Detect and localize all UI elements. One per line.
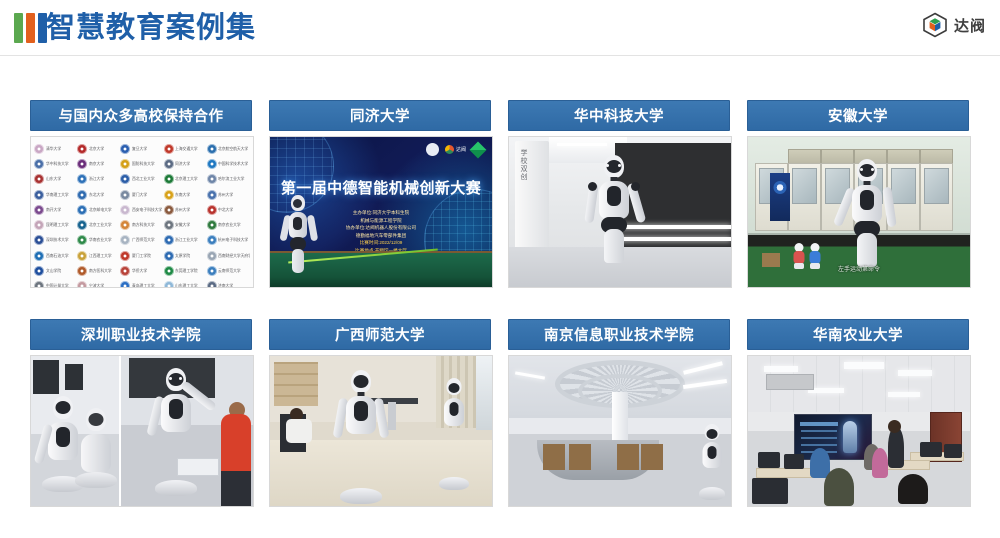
case-card-south-china-agricultural-university[interactable]: 华南农业大学 — [747, 319, 969, 507]
university-seal-icon — [207, 144, 217, 154]
ceiling-light — [764, 366, 798, 372]
page-header: 智慧教育案例集 达阀 — [0, 0, 1000, 56]
brand-name: 达阀 — [954, 15, 986, 36]
university-name: 广西师范大学 — [132, 237, 155, 243]
university-seal-icon — [120, 144, 130, 154]
university-logo-item: 厦门大学 — [120, 187, 163, 202]
lobby-robot-photo — [509, 356, 731, 506]
university-logo-item: 中国科学技术大学 — [207, 156, 250, 171]
university-name: 昆明理工大学 — [46, 222, 69, 228]
lab-cabinet — [788, 163, 821, 231]
computer-monitor — [758, 452, 780, 468]
card-media-shenzhen-polytechnic — [30, 355, 254, 507]
university-name: 中国计量大学 — [46, 283, 69, 288]
robot-eye-right — [618, 164, 621, 167]
person-in-red-shirt — [221, 414, 251, 506]
university-seal-icon — [77, 205, 87, 215]
roll-up-banner — [770, 173, 790, 221]
photo-pane-left — [31, 356, 121, 506]
university-logo-item: 江西理工大学 — [77, 248, 120, 263]
university-name: 太原学院 — [175, 253, 190, 259]
university-name: 苏州大学 — [175, 207, 190, 213]
cabinet-glass-door — [792, 168, 817, 204]
card-title-shenzhen-polytechnic: 深圳职业技术学院 — [30, 319, 252, 350]
university-logo-item: 哈尔滨工业大学 — [207, 172, 250, 187]
university-name: 华侨大学 — [132, 268, 147, 274]
university-logo-item: 同济大学 — [164, 156, 207, 171]
computer-monitor — [784, 454, 804, 469]
university-seal-icon — [164, 174, 174, 184]
university-seal-icon — [207, 159, 217, 169]
teacher-head — [888, 420, 901, 433]
university-seal-icon — [34, 281, 44, 288]
university-seal-icon — [120, 205, 130, 215]
university-seal-icon — [34, 174, 44, 184]
university-seal-icon — [77, 144, 87, 154]
university-seal-icon — [34, 251, 44, 261]
university-logo-item: 复旦大学 — [120, 141, 163, 156]
university-logo-item: 昆明理工大学 — [34, 217, 77, 232]
screen-robot-avatar — [843, 421, 857, 453]
card-title-guangxi-normal-university: 广西师范大学 — [269, 319, 491, 350]
university-seal-icon — [34, 235, 44, 245]
case-card-grid: 与国内众多高校保持合作 清华大学北京大学复旦大学上海交通大学北京航空航天大学华中… — [30, 100, 970, 507]
ceiling-light — [888, 392, 920, 397]
university-name: 清华大学 — [46, 145, 61, 151]
university-name: 安徽大学 — [175, 222, 190, 228]
university-seal-icon — [34, 266, 44, 276]
university-logo-item: 西南石油大学 — [34, 248, 77, 263]
university-logo-item: 宁波大学 — [77, 279, 120, 288]
cloudminds-logo: 达阀 — [445, 145, 466, 154]
ceiling-light — [898, 370, 932, 376]
computer-monitor — [944, 444, 962, 458]
robot-corridor-photo: 学校双创 — [509, 137, 731, 287]
partner-diamond-icon — [470, 141, 487, 158]
university-logo-item: 南京大学 — [77, 156, 120, 171]
university-logo-item: 云南师范大学 — [207, 263, 250, 278]
university-name: 中北大学 — [218, 207, 233, 213]
university-seal-icon — [207, 220, 217, 230]
university-seal-icon — [164, 205, 174, 215]
university-logo-item: 南方医科大学 — [77, 263, 120, 278]
robot-visor — [56, 401, 71, 414]
university-name: 浙江大学 — [89, 176, 104, 182]
university-seal-icon — [120, 190, 130, 200]
university-name: 北京大学 — [89, 145, 104, 151]
robot-eye-left — [860, 168, 863, 171]
case-card-huazhong-university[interactable]: 华中科技大学 学校双创 — [508, 100, 730, 288]
accent-bar-green — [14, 13, 23, 43]
person-body — [286, 419, 312, 443]
service-robot — [328, 370, 394, 504]
university-logo-item: 西安电子科技大学 — [120, 202, 163, 217]
university-name: 云南师范大学 — [218, 268, 241, 274]
robot-legs — [857, 233, 877, 267]
wooden-panel — [617, 444, 639, 470]
robot-visor — [354, 375, 369, 388]
robot-torso — [81, 434, 111, 472]
university-name: 济南大学 — [218, 283, 233, 288]
university-logo-item: 厦门工学院 — [120, 248, 163, 263]
university-logo-item: 华南农业大学 — [77, 233, 120, 248]
university-seal-icon — [164, 144, 174, 154]
case-card-shenzhen-polytechnic[interactable]: 深圳职业技术学院 — [30, 319, 252, 507]
university-name: 南京农业大学 — [218, 222, 241, 228]
university-seal-icon — [164, 251, 174, 261]
university-name: 西安电子科技大学 — [132, 207, 162, 213]
university-seal-icon — [34, 190, 44, 200]
university-seal-icon — [77, 220, 87, 230]
university-name: 华南理工大学 — [46, 191, 69, 197]
university-seal-icon — [120, 235, 130, 245]
university-seal-icon — [207, 235, 217, 245]
university-name: 东北大学 — [89, 191, 104, 197]
photo-pane-right — [121, 356, 253, 506]
university-seal-icon — [164, 220, 174, 230]
computer-classroom-photo — [748, 356, 970, 506]
university-logo-wall: 清华大学北京大学复旦大学上海交通大学北京航空航天大学华中科技大学南京大学国防科技… — [31, 137, 253, 287]
screen-text-lines — [800, 422, 838, 426]
humanoid-robot — [282, 195, 316, 273]
tongji-seal-icon — [426, 143, 439, 156]
university-seal-icon — [120, 220, 130, 230]
university-logo-item: 南开大学 — [34, 202, 77, 217]
case-card-nanjing-vocational-college[interactable]: 南京信息职业技术学院 — [508, 319, 730, 507]
wooden-panel — [543, 444, 565, 470]
robot-chest — [293, 217, 302, 230]
robot-mobile-base — [340, 488, 382, 504]
university-name: 华中科技大学 — [46, 161, 69, 167]
accent-bar-orange — [26, 13, 35, 43]
university-name: 国防科技大学 — [132, 161, 155, 167]
university-seal-icon — [34, 220, 44, 230]
university-logo-item: 清华大学 — [34, 141, 77, 156]
university-seal-icon — [207, 251, 217, 261]
university-logo-item: 文山学院 — [34, 263, 77, 278]
page-title: 智慧教育案例集 — [46, 8, 256, 48]
robot-chest — [56, 427, 70, 447]
wooden-panel — [569, 444, 591, 470]
humanoid-robot — [575, 155, 653, 287]
university-logo-item: 北京大学 — [77, 141, 120, 156]
robot-mobile-base — [75, 472, 117, 488]
cube-hexagon-icon — [922, 12, 948, 38]
university-name: 青岛理工大学 — [132, 283, 155, 288]
university-logo-item: 苏州大学 — [164, 202, 207, 217]
university-name: 杭州电子科技大学 — [218, 237, 248, 243]
university-name: 南京大学 — [89, 161, 104, 167]
card-title-tongji-university: 同济大学 — [269, 100, 491, 131]
accent-bars — [14, 13, 47, 43]
university-logo-item: 太原学院 — [164, 248, 207, 263]
robot-chest — [169, 399, 183, 419]
service-robot — [143, 368, 209, 496]
card-title-south-china-agricultural-university: 华南农业大学 — [747, 319, 969, 350]
seated-person — [286, 408, 320, 450]
card-title-anhui-university: 安徽大学 — [747, 100, 969, 131]
university-seal-icon — [207, 205, 217, 215]
card-media-south-china-agricultural-university — [747, 355, 971, 507]
cabinet-glass-door — [924, 168, 949, 204]
university-name: 西北工业大学 — [132, 176, 155, 182]
university-seal-icon — [207, 174, 217, 184]
university-logo-item: 浙江大学 — [77, 172, 120, 187]
university-seal-icon — [77, 235, 87, 245]
robot-legs — [604, 229, 624, 263]
university-seal-icon — [77, 159, 87, 169]
robot-legs — [292, 249, 304, 273]
robot-chest — [860, 190, 874, 210]
robot-shoulder-right — [631, 182, 640, 191]
university-logo-item: 华南理工大学 — [34, 187, 77, 202]
wall-sign-text: 学校双创 — [519, 149, 528, 181]
university-logo-item: 北京工业大学 — [77, 217, 120, 232]
robot-mobile-base — [439, 477, 469, 490]
robot-face — [293, 199, 302, 208]
university-seal-icon — [34, 159, 44, 169]
university-logo-item: 济南大学 — [207, 279, 250, 288]
university-logo-item: 西北工业大学 — [120, 172, 163, 187]
university-name: 深圳技术大学 — [46, 237, 69, 243]
university-name: 厦门工学院 — [132, 253, 151, 259]
wooden-panel — [641, 444, 663, 470]
university-name: 文山学院 — [46, 268, 61, 274]
university-logo-item: 广西师范大学 — [120, 233, 163, 248]
card-media-guangxi-normal-university — [269, 355, 493, 507]
university-seal-icon — [207, 281, 217, 288]
robot-visor — [449, 383, 460, 393]
university-name: 浙江工业大学 — [175, 237, 198, 243]
window — [65, 364, 83, 390]
university-name: 江西理工大学 — [89, 253, 112, 259]
university-logo-item: 南方科技大学 — [120, 217, 163, 232]
university-logo-item: 国防科技大学 — [120, 156, 163, 171]
university-logo-item: 上海交通大学 — [164, 141, 207, 156]
robot-eye-right — [179, 377, 182, 380]
university-name: 哈尔滨工业大学 — [218, 176, 244, 182]
header-divider — [0, 55, 1000, 56]
university-seal-icon — [34, 144, 44, 154]
case-card-tongji-university[interactable]: 同济大学 达阀 第一届中德智能机械创新大赛 主办单位:同济大学本科生院 机械与能… — [269, 100, 491, 288]
banner-sponsor-label: 达阀 — [456, 146, 466, 153]
robot-eye-left — [169, 377, 172, 380]
university-name: 上海交通大学 — [175, 145, 198, 151]
large-display-screen — [794, 414, 872, 460]
robot-lab-photo: 左手运动第命令 — [748, 137, 970, 287]
university-name: 北京航空航天大学 — [218, 145, 248, 151]
university-name: 南开大学 — [46, 207, 61, 213]
university-seal-icon — [77, 174, 87, 184]
university-name: 北京理工大学 — [175, 176, 198, 182]
university-name: 西南财经大学天府学院 — [218, 253, 250, 259]
student — [824, 468, 854, 506]
university-seal-icon — [164, 281, 174, 288]
card-media-nanjing-vocational-college — [508, 355, 732, 507]
university-seal-icon — [207, 190, 217, 200]
university-logo-item: 东南大学 — [164, 187, 207, 202]
video-caption: 左手运动第命令 — [748, 264, 970, 273]
case-card-anhui-university[interactable]: 安徽大学 — [747, 100, 969, 288]
robot-chest — [607, 186, 621, 206]
lab-cabinet — [920, 163, 953, 231]
university-seal-icon — [34, 205, 44, 215]
university-logo-item: 华侨大学 — [120, 263, 163, 278]
university-logo-item: 北京理工大学 — [164, 172, 207, 187]
university-logo-item: 深圳技术大学 — [34, 233, 77, 248]
air-conditioner — [766, 374, 814, 390]
university-seal-icon — [164, 190, 174, 200]
university-logo-item: 山东大学 — [34, 172, 77, 187]
card-media-huazhong-university: 学校双创 — [508, 136, 732, 288]
university-name: 宁波大学 — [89, 283, 104, 288]
university-name: 北京邮电大学 — [89, 207, 112, 213]
university-logo-item: 北京邮电大学 — [77, 202, 120, 217]
university-seal-icon — [120, 251, 130, 261]
robots-classroom-photo — [270, 356, 492, 506]
window — [33, 360, 59, 394]
university-seal-icon — [207, 266, 217, 276]
service-robots-split-photo — [31, 356, 253, 506]
university-seal-icon — [120, 281, 130, 288]
service-robot — [434, 378, 474, 490]
university-name: 西南石油大学 — [46, 253, 69, 259]
university-seal-icon — [164, 235, 174, 245]
university-logo-item: 安徽大学 — [164, 217, 207, 232]
university-logo-item: 中国计量大学 — [34, 279, 77, 288]
university-name: 南方科技大学 — [132, 222, 155, 228]
university-logo-item: 中北大学 — [207, 202, 250, 217]
computer-monitor — [752, 478, 788, 504]
student — [898, 474, 928, 504]
university-seal-icon — [774, 181, 787, 194]
university-logo-item: 山东理工大学 — [164, 279, 207, 288]
university-seal-icon — [164, 159, 174, 169]
university-logo-item: 北京航空航天大学 — [207, 141, 250, 156]
student — [872, 448, 888, 478]
card-title-partner-universities: 与国内众多高校保持合作 — [30, 100, 252, 131]
university-logo-item: 西南财经大学天府学院 — [207, 248, 250, 263]
robot-mobile-base — [699, 487, 725, 500]
university-logo-item: 杭州电子科技大学 — [207, 233, 250, 248]
card-title-nanjing-vocational-college: 南京信息职业技术学院 — [508, 319, 730, 350]
university-name: 东南大学 — [175, 191, 190, 197]
university-logo-item: 南京农业大学 — [207, 217, 250, 232]
brand-logo: 达阀 — [922, 12, 986, 38]
university-logo-item: 东莞理工学院 — [164, 263, 207, 278]
robot-shoulder-left — [588, 182, 597, 191]
robot-visor — [89, 413, 104, 426]
university-seal-icon — [120, 266, 130, 276]
robot-chest — [354, 401, 368, 421]
university-logo-item: 东北大学 — [77, 187, 120, 202]
university-name: 厦门大学 — [132, 191, 147, 197]
robot-eye-right — [871, 168, 874, 171]
university-seal-icon — [77, 251, 87, 261]
university-name: 华南农业大学 — [89, 237, 112, 243]
university-seal-icon — [120, 159, 130, 169]
computer-monitor — [920, 442, 942, 457]
wall-shelf — [274, 362, 318, 406]
window — [476, 356, 492, 430]
university-name: 中国科学技术大学 — [218, 161, 248, 167]
university-seal-icon — [120, 174, 130, 184]
robot-mobile-base — [155, 480, 197, 496]
university-seal-icon — [77, 190, 87, 200]
robot-chest — [450, 402, 459, 416]
card-media-anhui-university: 左手运动第命令 — [747, 136, 971, 288]
case-card-partner-universities[interactable]: 与国内众多高校保持合作 清华大学北京大学复旦大学上海交通大学北京航空航天大学华中… — [30, 100, 252, 288]
university-logo-item: 青岛理工大学 — [120, 279, 163, 288]
university-name: 南方医科大学 — [89, 268, 112, 274]
university-name: 东莞理工学院 — [175, 268, 198, 274]
service-robot — [699, 424, 725, 500]
ceiling-light — [844, 362, 884, 369]
university-name: 山东大学 — [46, 176, 61, 182]
card-media-partner-universities: 清华大学北京大学复旦大学上海交通大学北京航空航天大学华中科技大学南京大学国防科技… — [30, 136, 254, 288]
university-name: 北京工业大学 — [89, 222, 112, 228]
card-media-tongji-university: 达阀 第一届中德智能机械创新大赛 主办单位:同济大学本科生院 机械与能源工程学院… — [269, 136, 493, 288]
robot-visor — [707, 429, 718, 439]
university-seal-icon — [164, 266, 174, 276]
banner-sponsor-logos: 达阀 — [426, 143, 484, 156]
card-title-huazhong-university: 华中科技大学 — [508, 100, 730, 131]
service-robot — [75, 408, 117, 488]
university-seal-icon — [77, 281, 87, 288]
robot-arm-right — [882, 187, 896, 228]
university-name: 同济大学 — [175, 161, 190, 167]
university-logo-item: 华中科技大学 — [34, 156, 77, 171]
robot-chest — [708, 446, 717, 459]
university-seal-icon — [77, 266, 87, 276]
cube-hexagon-icon — [445, 145, 454, 154]
university-name: 复旦大学 — [132, 145, 147, 151]
robot-eye-left — [606, 164, 609, 167]
university-logo-item: 浙江工业大学 — [164, 233, 207, 248]
case-card-guangxi-normal-university[interactable]: 广西师范大学 — [269, 319, 491, 507]
ceiling-light — [557, 143, 607, 146]
university-name: 苏州大学 — [218, 191, 233, 197]
university-logo-item: 苏州大学 — [207, 187, 250, 202]
competition-banner-photo: 达阀 第一届中德智能机械创新大赛 主办单位:同济大学本科生院 机械与能源工程学院… — [270, 137, 492, 287]
university-name: 山东理工大学 — [175, 283, 198, 288]
